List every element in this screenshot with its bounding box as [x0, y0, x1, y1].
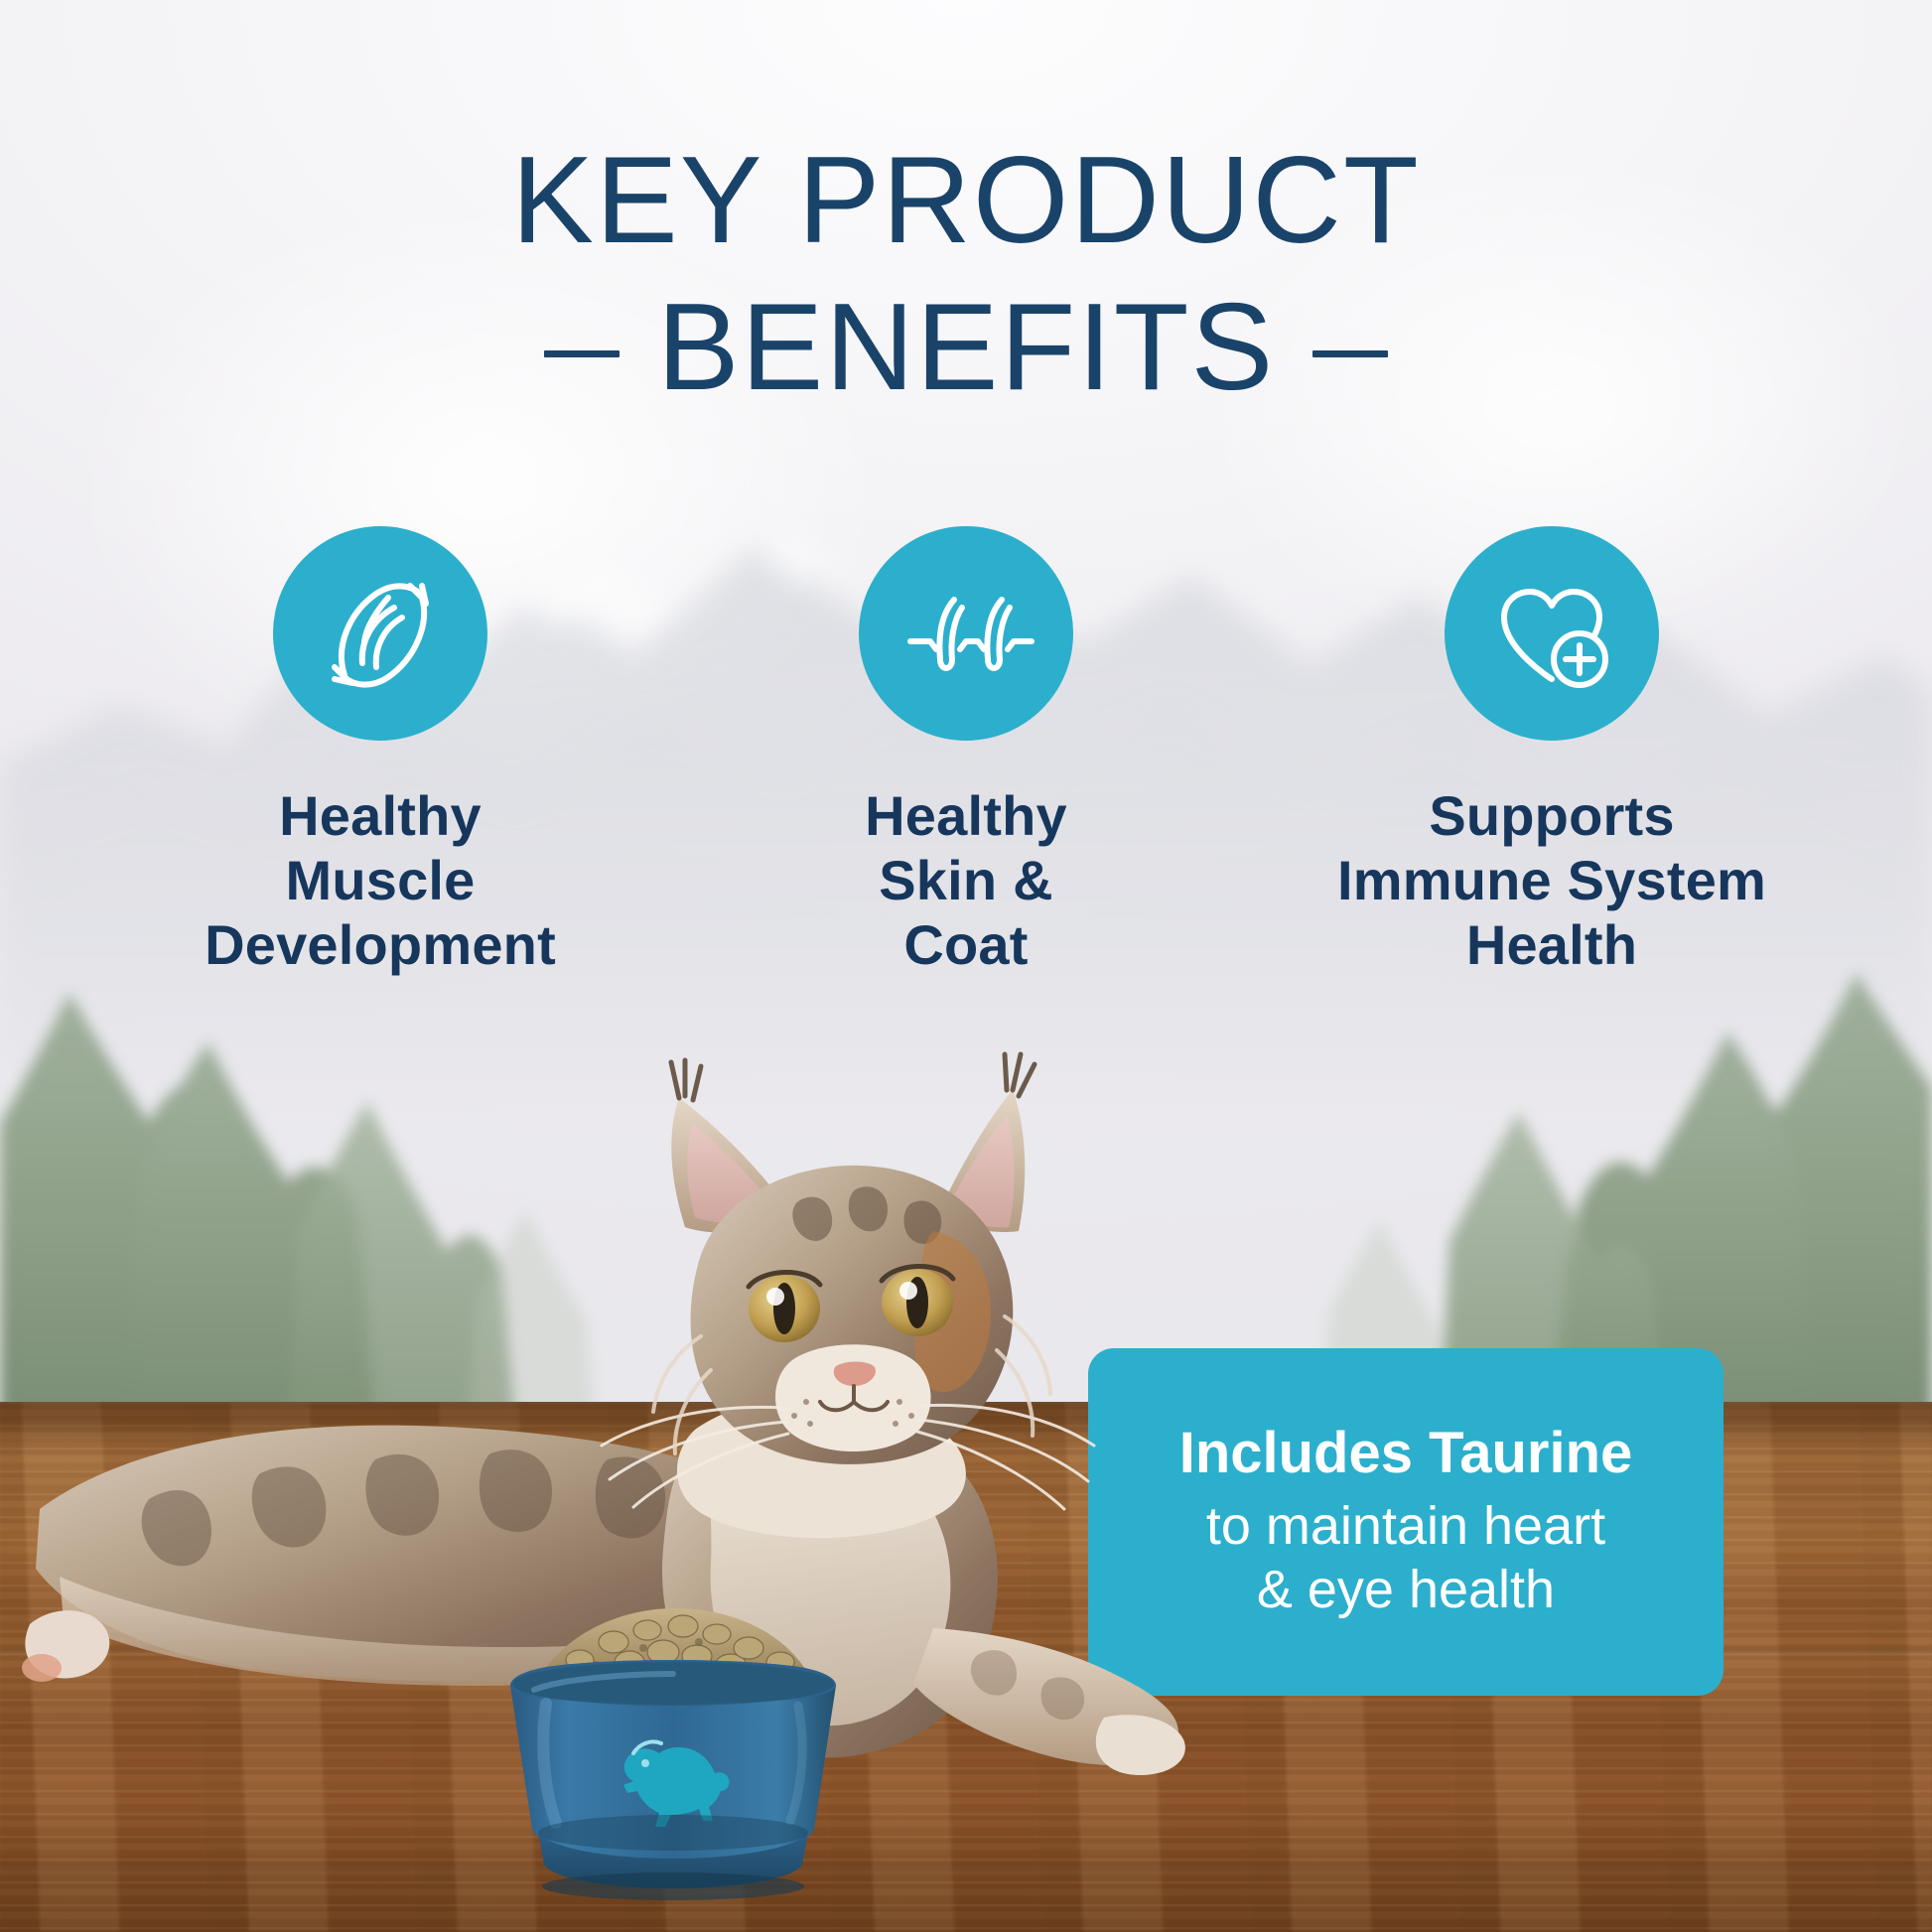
title-dash-right-icon	[1312, 350, 1388, 357]
title-dash-left-icon	[544, 350, 620, 357]
hair-follicle-icon	[859, 526, 1073, 741]
muscle-fiber-icon	[273, 526, 487, 741]
benefit-label: Healthy Muscle Development	[205, 784, 556, 978]
promo-graphic: KEY PRODUCT BENEFITS	[0, 0, 1932, 1932]
benefit-item-immune: Supports Immune System Health	[1318, 526, 1785, 978]
pet-food-bowl	[494, 1579, 852, 1906]
title-line-secondary-row: BENEFITS	[0, 286, 1932, 409]
maine-coon-kitten-image	[0, 1033, 1932, 1932]
page-title: KEY PRODUCT BENEFITS	[0, 139, 1932, 409]
heart-plus-icon	[1445, 526, 1659, 741]
title-line-secondary: BENEFITS	[657, 286, 1275, 409]
benefit-item-skin-coat: Healthy Skin & Coat	[733, 526, 1199, 978]
title-line-primary: KEY PRODUCT	[0, 139, 1932, 262]
benefits-row: Healthy Muscle Development	[0, 526, 1932, 978]
benefit-label: Healthy Skin & Coat	[865, 784, 1067, 978]
benefit-item-muscle: Healthy Muscle Development	[147, 526, 614, 978]
benefit-label: Supports Immune System Health	[1337, 784, 1766, 978]
